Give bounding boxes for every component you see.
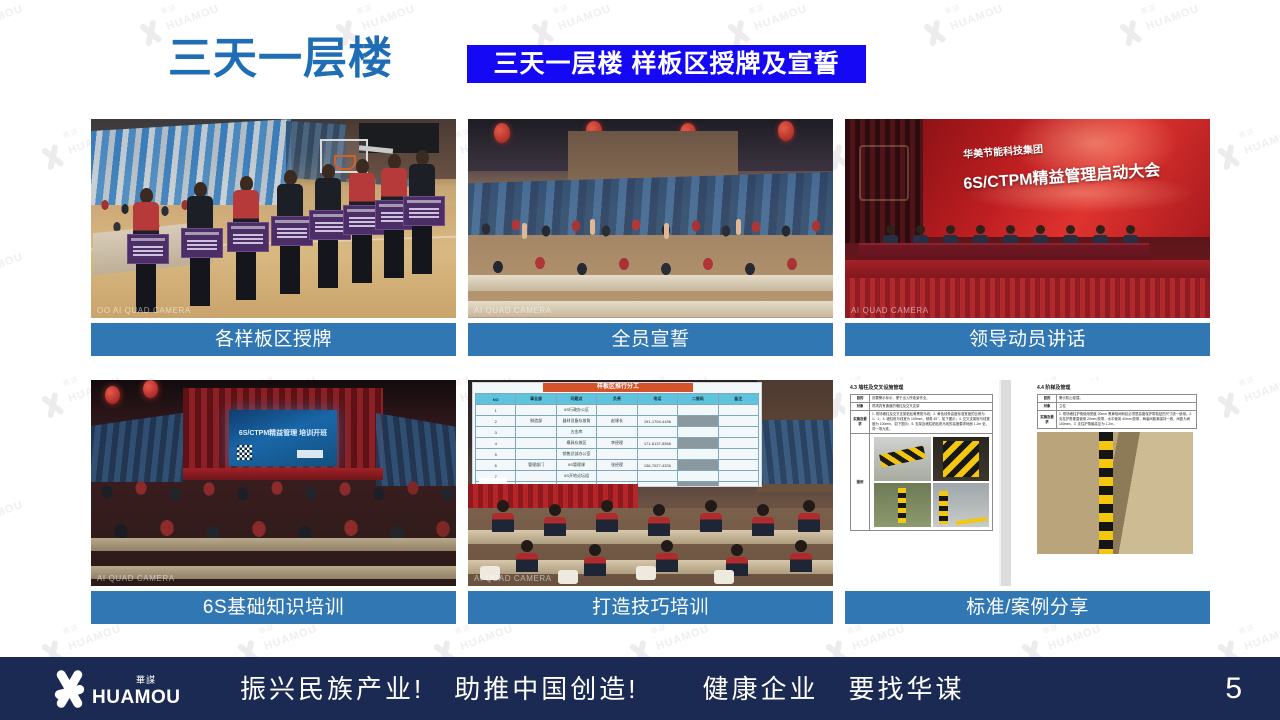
table-row: 16S行政办公区: [476, 405, 759, 416]
table-cell: [678, 416, 718, 427]
caption-text: 各样板区授牌: [215, 330, 332, 350]
card-plaque-award[interactable]: OO AI QUAD CAMERA 各样板区授牌: [91, 119, 456, 356]
table-cell: [637, 427, 677, 438]
table-cell: [718, 427, 758, 438]
table-row: 实施及要求 1. 现场墙柱及交叉支架粘贴黄黑斑马线；2. 黄色线条高度标准宽度的…: [851, 411, 993, 434]
red-lantern-icon: [105, 386, 120, 404]
hazard-cross-brace-photo: [874, 437, 931, 481]
award-recipient: [349, 159, 375, 283]
raised-hand: [736, 219, 741, 235]
table-header-row: NO 事业部 问题点 负责 电话 二维码 备注: [476, 394, 759, 405]
table-cell: 6S管理课: [556, 460, 596, 471]
watermark-text: HUAMOU: [1243, 375, 1280, 405]
caption-leader-speech: 领导动员讲话: [845, 323, 1210, 356]
col-phone: 电话: [637, 394, 677, 405]
col-no: NO: [476, 394, 516, 405]
col-division: 事业部: [516, 394, 556, 405]
watermark-text: HUAMOU: [0, 251, 25, 281]
row-photo-cell: [870, 434, 993, 531]
photo-grid-row-1: OO AI QUAD CAMERA 各样板区授牌: [91, 119, 1209, 356]
table-cell: 制造部: [516, 416, 556, 427]
table-cell: 1: [476, 405, 516, 416]
document-heading: 4.3 墙柱及交叉设施管理: [850, 384, 999, 391]
presentation-slide: 華謀HUAMOU華謀HUAMOU華謀HUAMOU華謀HUAMOU華謀HUAMOU…: [0, 0, 1280, 720]
table-row: 目的 警示防止碰撞。: [1038, 395, 1197, 403]
footer-slogans: 振兴民族产业! 助推中国创造! 健康企业 要找华谋: [240, 657, 965, 720]
caption-text: 标准/案例分享: [966, 598, 1089, 618]
table-cell: 6: [476, 460, 516, 471]
table-cell: 李经理: [597, 438, 637, 449]
caption-skill-training: 打造技巧培训: [468, 591, 833, 624]
table-row: 4模具存放区李经理171-6137-8366: [476, 438, 759, 449]
front-desk-row: [468, 275, 833, 291]
document-table: 目的 设置警示标示，便于出入所准景作业。 对象 现场具有通道的墙柱及交叉支架 实…: [850, 394, 993, 531]
table-cell: [718, 405, 758, 416]
trainee: [648, 504, 670, 534]
logo-english-name: HUAMOU: [92, 687, 181, 709]
award-plaque: [127, 234, 169, 264]
table-cell: [597, 449, 637, 460]
watermark-text: HUAMOU: [67, 623, 123, 653]
title-banner-text: 三天一层楼 样板区授牌及宣誓: [494, 51, 840, 77]
table-cell: [678, 438, 718, 449]
skill-building-training-photo[interactable]: 样板区推行分工 NO 事业部 问题点 负责 电话 二维码: [468, 380, 833, 586]
award-plaque: [403, 196, 445, 226]
table-cell: 191-1794-4156: [637, 416, 677, 427]
table-cell: [516, 449, 556, 460]
trainee: [516, 540, 538, 570]
col-remark: 备注: [718, 394, 758, 405]
caption-text: 6S基础知识培训: [203, 598, 344, 618]
chair-back: [636, 566, 656, 580]
standard-document-page-right: 4.4 阶梯及管理 目的 警示防止碰撞。 对象 立柱 实施及要求: [1011, 380, 1210, 586]
row-label: 实施及要求: [851, 411, 870, 434]
table-cell: 2: [476, 416, 516, 427]
document-table: 目的 警示防止碰撞。 对象 立柱 实施及要求 1. 现场墙柱护角使用宽度 20m…: [1037, 394, 1197, 429]
table-cell: [516, 438, 556, 449]
chevron-column-photo: [933, 437, 990, 481]
table-cell: [678, 460, 718, 471]
photo-grid-row-2: 6S/CTPM精益管理 培训开班 AI QUAD CAMERA 6S基础知识培训: [91, 380, 1209, 624]
qr-code-icon: [237, 445, 252, 460]
side-seating-left: [91, 410, 183, 482]
trainee: [798, 500, 820, 530]
trainee: [790, 540, 812, 570]
table-cell: [718, 482, 758, 488]
watermark-text: HUAMOU: [1243, 127, 1280, 157]
huamou-logo-icon: 華謀: [1212, 141, 1245, 174]
card-6s-training[interactable]: 6S/CTPM精益管理 培训开班 AI QUAD CAMERA 6S基础知识培训: [91, 380, 456, 624]
table-cell: [678, 405, 718, 416]
table-cell: [678, 482, 718, 488]
chair-back: [714, 570, 734, 584]
table-cell: [678, 471, 718, 482]
table-cell: 模具存放区: [556, 438, 596, 449]
document-page-separator: [1001, 380, 1011, 586]
card-all-staff-oath[interactable]: AI QUAD CAMERA 全员宣誓: [468, 119, 833, 356]
table-cell: [597, 427, 637, 438]
camera-watermark: AI QUAD CAMERA: [474, 574, 552, 583]
caption-all-staff-oath: 全员宣誓: [468, 323, 833, 356]
watermark-text: HUAMOU: [1243, 623, 1280, 653]
watermark-text: HUAMOU: [851, 623, 907, 653]
caption-text: 全员宣誓: [611, 330, 689, 350]
row-text: 立柱: [1057, 403, 1197, 411]
standard-document-page-left: 4.3 墙柱及交叉设施管理 目的 设置警示标示，便于出入所准景作业。 对象 现场…: [845, 380, 999, 586]
slogan-2: 助推中国创造!: [454, 674, 638, 704]
table-row: 2制造部器材设备存放角赵课长191-1794-4156: [476, 416, 759, 427]
chair-back: [558, 570, 578, 584]
red-lantern-icon: [143, 380, 158, 398]
award-recipient: [315, 164, 341, 288]
caption-text: 打造技巧培训: [592, 598, 709, 618]
table-row: 76S开地论坛组: [476, 471, 759, 482]
card-leader-speech[interactable]: 华美节能科技集团 6S/CTPM精益管理启动大会: [845, 119, 1210, 356]
all-staff-oath-photo[interactable]: AI QUAD CAMERA: [468, 119, 833, 318]
col-owner: 负责: [597, 394, 637, 405]
watermark-huamou: 華謀HUAMOU: [0, 244, 27, 298]
award-plaque: [271, 216, 313, 246]
trainee: [656, 540, 678, 570]
slogan-1: 振兴民族产业!: [240, 674, 424, 704]
projected-table-body: 16S行政办公区2制造部器材设备存放角赵课长191-1794-41563五金库4…: [476, 405, 759, 488]
watermark-huamou: 華謀HUAMOU: [0, 492, 27, 546]
table-row: 目的 设置警示标示，便于出入所准景作业。: [851, 395, 993, 403]
table-cell: [678, 449, 718, 460]
table-cell: [597, 471, 637, 482]
standards-case-sharing-photo[interactable]: 4.3 墙柱及交叉设施管理 目的 设置警示标示，便于出入所准景作业。 对象 现场…: [845, 380, 1210, 586]
table-cell: [597, 405, 637, 416]
table-cell: [637, 405, 677, 416]
award-plaque: [227, 222, 269, 252]
table-row: 3五金库: [476, 427, 759, 438]
screen-logo: [297, 450, 323, 458]
watermark-text: HUAMOU: [459, 623, 515, 653]
trainee: [596, 500, 618, 530]
camera-watermark: OO AI QUAD CAMERA: [97, 306, 191, 315]
trainee: [492, 500, 514, 530]
leader-mobilization-speech-photo[interactable]: 华美节能科技集团 6S/CTPM精益管理启动大会: [845, 119, 1210, 318]
red-lantern-icon: [778, 121, 794, 141]
slide-header: 三天一层楼 三天一层楼 样板区授牌及宣誓: [0, 0, 1280, 105]
slogan-4: 要找华谋: [848, 674, 964, 704]
table-cell: [718, 438, 758, 449]
projection-screen-text: 6S/CTPM精益管理 培训开班: [234, 428, 332, 438]
company-logo: 華謀 HUAMOU: [48, 666, 176, 712]
table-row: 5销售总部办公室: [476, 449, 759, 460]
card-standards-sharing[interactable]: 4.3 墙柱及交叉设施管理 目的 设置警示标示，便于出入所准景作业。 对象 现场…: [845, 380, 1210, 624]
table-cell: [516, 471, 556, 482]
row-text: 1. 现场墙柱及交叉支架粘贴黄黑斑马线；2. 黄色线条高度标准宽度的比例为 1：…: [870, 411, 993, 434]
award-recipient: [133, 188, 159, 312]
table-cell: 赵课长: [597, 416, 637, 427]
red-lantern-icon: [494, 123, 510, 143]
camera-watermark: AI QUAD CAMERA: [851, 306, 929, 315]
raised-hand: [664, 223, 669, 239]
trainee: [700, 500, 722, 530]
col-qrcode: 二维码: [678, 394, 718, 405]
document-photo-grid: [872, 435, 991, 529]
table-row: 图例: [851, 434, 993, 531]
table-cell: 137-1493-0773: [637, 482, 677, 488]
watermark-huamou: 華謀HUAMOU: [1212, 120, 1280, 174]
table-cell: [718, 471, 758, 482]
huamou-logo-icon: 華謀: [36, 389, 69, 422]
table-cell: 4: [476, 438, 516, 449]
col-issue: 问题点: [556, 394, 596, 405]
huamou-logo-icon: [48, 668, 90, 710]
side-seating-right: [376, 410, 456, 486]
table-row: 对象 立柱: [1038, 403, 1197, 411]
row-text: 警示防止碰撞。: [1057, 395, 1197, 403]
title-banner: 三天一层楼 样板区授牌及宣誓: [467, 45, 866, 83]
table-cell: 五金库: [556, 427, 596, 438]
row-label: 对象: [851, 403, 870, 411]
table-row: 6管理部门6S管理课张经理136-7027-4330: [476, 460, 759, 471]
award-recipient: [187, 182, 213, 306]
caption-6s-training: 6S基础知识培训: [91, 591, 456, 624]
table-cell: [637, 471, 677, 482]
award-plaque: [181, 228, 223, 258]
slogan-3: 健康企业: [702, 674, 818, 704]
logo-chinese-name: 華謀: [136, 673, 156, 686]
stage-floor: [845, 260, 1210, 280]
table-cell: 6S行政办公区: [556, 405, 596, 416]
projection-screen: 样板区推行分工 NO 事业部 问题点 负责 电话 二维码: [472, 382, 762, 487]
row-label: 目的: [851, 395, 870, 403]
row-text: 设置警示标示，便于出入所准景作业。: [870, 395, 993, 403]
audience-desk-row: [91, 538, 456, 551]
slide-footer: 華謀 HUAMOU 振兴民族产业! 助推中国创造! 健康企业 要找华谋 5: [0, 657, 1280, 720]
table-cell: [678, 427, 718, 438]
table-cell: 6S开地论坛组: [556, 471, 596, 482]
striped-column-photo: [1037, 432, 1193, 554]
table-row: 对象 现场具有通道的墙柱及交叉支架: [851, 403, 993, 411]
row-label: 图例: [851, 434, 870, 531]
table-cell: [718, 460, 758, 471]
camera-watermark: AI QUAD CAMERA: [97, 574, 175, 583]
table-cell: [516, 427, 556, 438]
side-seating-right: [757, 420, 833, 484]
6s-basic-knowledge-training-photo[interactable]: 6S/CTPM精益管理 培训开班 AI QUAD CAMERA: [91, 380, 456, 586]
caption-standards-sharing: 标准/案例分享: [845, 591, 1210, 624]
caption-plaque-award: 各样板区授牌: [91, 323, 456, 356]
projected-assignment-table: NO 事业部 问题点 负责 电话 二维码 备注 16S行政办公区2制造部器材设备…: [475, 393, 759, 487]
camera-watermark: AI QUAD CAMERA: [474, 306, 552, 315]
table-cell: [637, 449, 677, 460]
projection-screen: 6S/CTPM精益管理 培训开班: [229, 410, 337, 466]
huamou-logo-icon: 華謀: [36, 141, 69, 174]
trainee: [544, 504, 566, 534]
table-cell: 5: [476, 449, 516, 460]
floor-marking-photo: [933, 483, 990, 527]
wall-decoration: [859, 145, 909, 201]
table-row: 实施及要求 1. 现场墙柱护角使用宽度 20mm 黑黄相间斜纹必须是高度保护带粘…: [1038, 411, 1197, 429]
striped-bollard-photo: [874, 483, 931, 527]
plaque-award-ceremony-photo[interactable]: OO AI QUAD CAMERA: [91, 119, 456, 318]
row-text: 1. 现场墙柱护角使用宽度 20mm 黑黄相间斜纹必须是高度保护带粘贴的尺寸统一…: [1057, 411, 1197, 429]
document-heading: 4.4 阶梯及管理: [1037, 384, 1210, 391]
table-cell: [516, 405, 556, 416]
projected-table-title: 样板区推行分工: [543, 383, 693, 392]
watermark-text: HUAMOU: [0, 499, 25, 529]
row-label: 实施及要求: [1038, 411, 1057, 429]
table-cell: 销售总部办公室: [556, 449, 596, 460]
watermark-text: HUAMOU: [263, 623, 319, 653]
table-cell: 3: [476, 427, 516, 438]
watermark-text: HUAMOU: [1047, 623, 1103, 653]
row-text: 现场具有通道的墙柱及交叉支架: [870, 403, 993, 411]
page-title: 三天一层楼: [168, 33, 393, 85]
trainee: [752, 504, 774, 534]
caption-text: 领导动员讲话: [969, 330, 1086, 350]
photo-grid: OO AI QUAD CAMERA 各样板区授牌: [91, 119, 1209, 624]
watermark-text: HUAMOU: [655, 623, 711, 653]
table-cell: [718, 449, 758, 460]
table-cell: 器材设备存放角: [556, 416, 596, 427]
raised-hand: [522, 223, 527, 239]
watermark-huamou: 華謀HUAMOU: [1212, 368, 1280, 422]
page-number: 5: [1225, 673, 1242, 705]
table-cell: [718, 416, 758, 427]
table-cell: 张经理: [597, 460, 637, 471]
huamou-logo-icon: 華謀: [1212, 389, 1245, 422]
trainee: [584, 544, 606, 574]
raised-hand: [590, 219, 595, 235]
table-cell: 171-6137-8366: [637, 438, 677, 449]
row-label: 对象: [1038, 403, 1057, 411]
table-cell: 管理部门: [516, 460, 556, 471]
award-recipient: [409, 150, 435, 274]
card-skill-training[interactable]: 样板区推行分工 NO 事业部 问题点 负责 电话 二维码: [468, 380, 833, 624]
award-recipient: [277, 170, 303, 294]
table-cell: 136-7027-4330: [637, 460, 677, 471]
award-recipient: [233, 176, 259, 300]
row-label: 目的: [1038, 395, 1057, 403]
